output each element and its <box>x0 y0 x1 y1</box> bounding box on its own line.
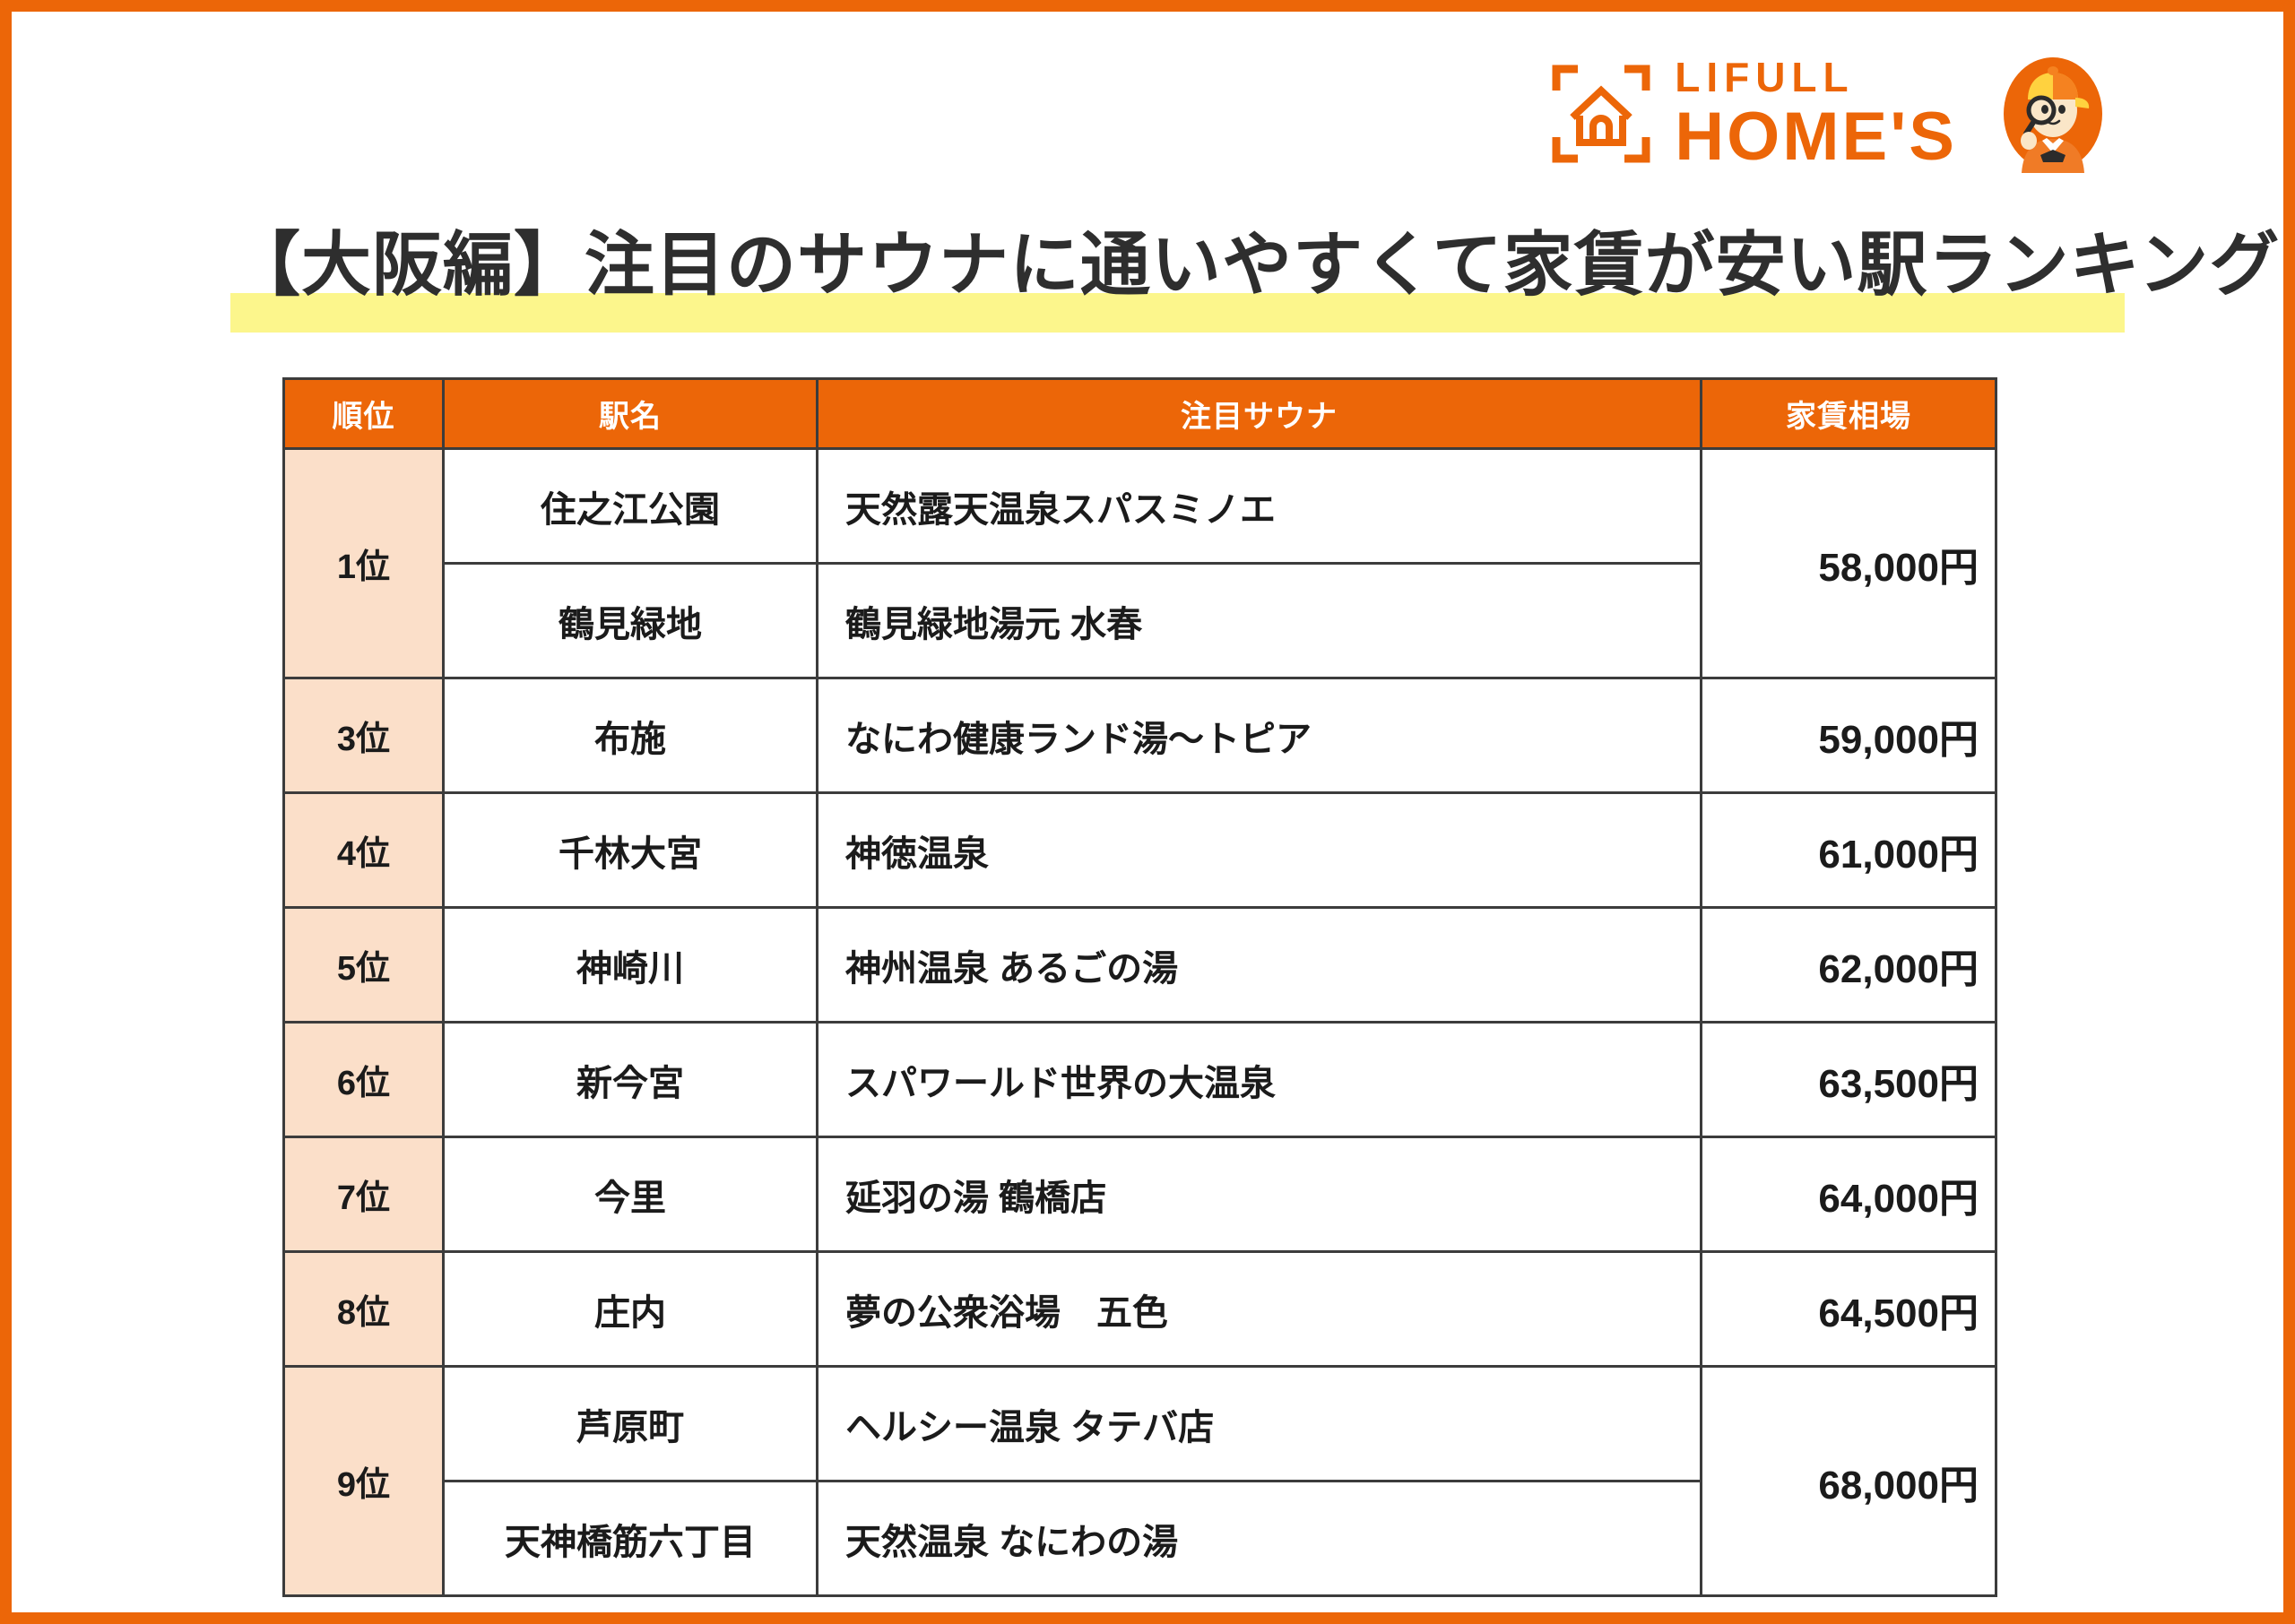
sauna-cell: 夢の公衆浴場 五色 <box>818 1252 1702 1367</box>
sauna-cell: スパワールド世界の大温泉 <box>818 1023 1702 1137</box>
rank-cell: 6位 <box>284 1023 444 1137</box>
sauna-cell: 神州温泉 あるごの湯 <box>818 908 1702 1023</box>
table-body: 1位住之江公園天然露天温泉スパスミノエ58,000円鶴見緑地鶴見緑地湯元 水春3… <box>284 449 1996 1596</box>
rent-cell: 58,000円 <box>1702 449 1996 678</box>
rank-cell: 8位 <box>284 1252 444 1367</box>
sauna-cell: 天然温泉 なにわの湯 <box>818 1481 1702 1596</box>
rent-cell: 68,000円 <box>1702 1367 1996 1596</box>
table-row: 3位布施なにわ健康ランド湯〜トピア59,000円 <box>284 678 1996 793</box>
table-header-row: 順位 駅名 注目サウナ 家賃相場 <box>284 379 1996 449</box>
ranking-table: 順位 駅名 注目サウナ 家賃相場 1位住之江公園天然露天温泉スパスミノエ58,0… <box>282 377 1997 1597</box>
rent-cell: 59,000円 <box>1702 678 1996 793</box>
logo-lifull-text: LIFULL <box>1675 56 1957 98</box>
table-row: 6位新今宮スパワールド世界の大温泉63,500円 <box>284 1023 1996 1137</box>
sauna-cell: 鶴見緑地湯元 水春 <box>818 564 1702 678</box>
rank-cell: 5位 <box>284 908 444 1023</box>
station-cell: 神崎川 <box>444 908 818 1023</box>
page-title: 【大阪編】注目のサウナに通いやすくて家賃が安い駅ランキング <box>230 223 2280 331</box>
rent-cell: 61,000円 <box>1702 793 1996 908</box>
logo-wordmark: LIFULL HOME'S <box>1675 56 1957 171</box>
header-rent: 家賃相場 <box>1702 379 1996 449</box>
page-title-text: 【大阪編】注目のサウナに通いやすくて家賃が安い駅ランキング <box>230 223 2280 306</box>
rank-cell: 4位 <box>284 793 444 908</box>
header-sauna: 注目サウナ <box>818 379 1702 449</box>
rent-cell: 62,000円 <box>1702 908 1996 1023</box>
rent-cell: 64,500円 <box>1702 1252 1996 1367</box>
rent-cell: 63,500円 <box>1702 1023 1996 1137</box>
station-cell: 新今宮 <box>444 1023 818 1137</box>
station-cell: 布施 <box>444 678 818 793</box>
sauna-cell: 天然露天温泉スパスミノエ <box>818 449 1702 564</box>
table-row: 4位千林大宮神徳温泉61,000円 <box>284 793 1996 908</box>
mascot-avatar-icon <box>2000 55 2106 173</box>
table-row: 5位神崎川神州温泉 あるごの湯62,000円 <box>284 908 1996 1023</box>
rank-cell: 3位 <box>284 678 444 793</box>
station-cell: 千林大宮 <box>444 793 818 908</box>
station-cell: 芦原町 <box>444 1367 818 1481</box>
station-cell: 鶴見緑地 <box>444 564 818 678</box>
infographic-page: LIFULL HOME'S <box>0 0 2295 1624</box>
table-row: 9位芦原町ヘルシー温泉 タテバ店68,000円 <box>284 1367 1996 1481</box>
sauna-cell: 延羽の湯 鶴橋店 <box>818 1137 1702 1252</box>
lifull-homes-logo: LIFULL HOME'S <box>1551 55 2106 173</box>
rent-cell: 64,000円 <box>1702 1137 1996 1252</box>
station-cell: 天神橋筋六丁目 <box>444 1481 818 1596</box>
header-rank: 順位 <box>284 379 444 449</box>
table-row: 1位住之江公園天然露天温泉スパスミノエ58,000円 <box>284 449 1996 564</box>
header-station: 駅名 <box>444 379 818 449</box>
sauna-cell: ヘルシー温泉 タテバ店 <box>818 1367 1702 1481</box>
station-cell: 庄内 <box>444 1252 818 1367</box>
sauna-cell: 神徳温泉 <box>818 793 1702 908</box>
logo-homes-text: HOME'S <box>1675 103 1957 171</box>
house-in-brackets-icon <box>1551 64 1651 164</box>
sauna-cell: なにわ健康ランド湯〜トピア <box>818 678 1702 793</box>
rank-cell: 9位 <box>284 1367 444 1596</box>
rank-cell: 7位 <box>284 1137 444 1252</box>
station-cell: 今里 <box>444 1137 818 1252</box>
station-cell: 住之江公園 <box>444 449 818 564</box>
table-row: 7位今里延羽の湯 鶴橋店64,000円 <box>284 1137 1996 1252</box>
table-row: 8位庄内夢の公衆浴場 五色64,500円 <box>284 1252 1996 1367</box>
rank-cell: 1位 <box>284 449 444 678</box>
table-header: 順位 駅名 注目サウナ 家賃相場 <box>284 379 1996 449</box>
